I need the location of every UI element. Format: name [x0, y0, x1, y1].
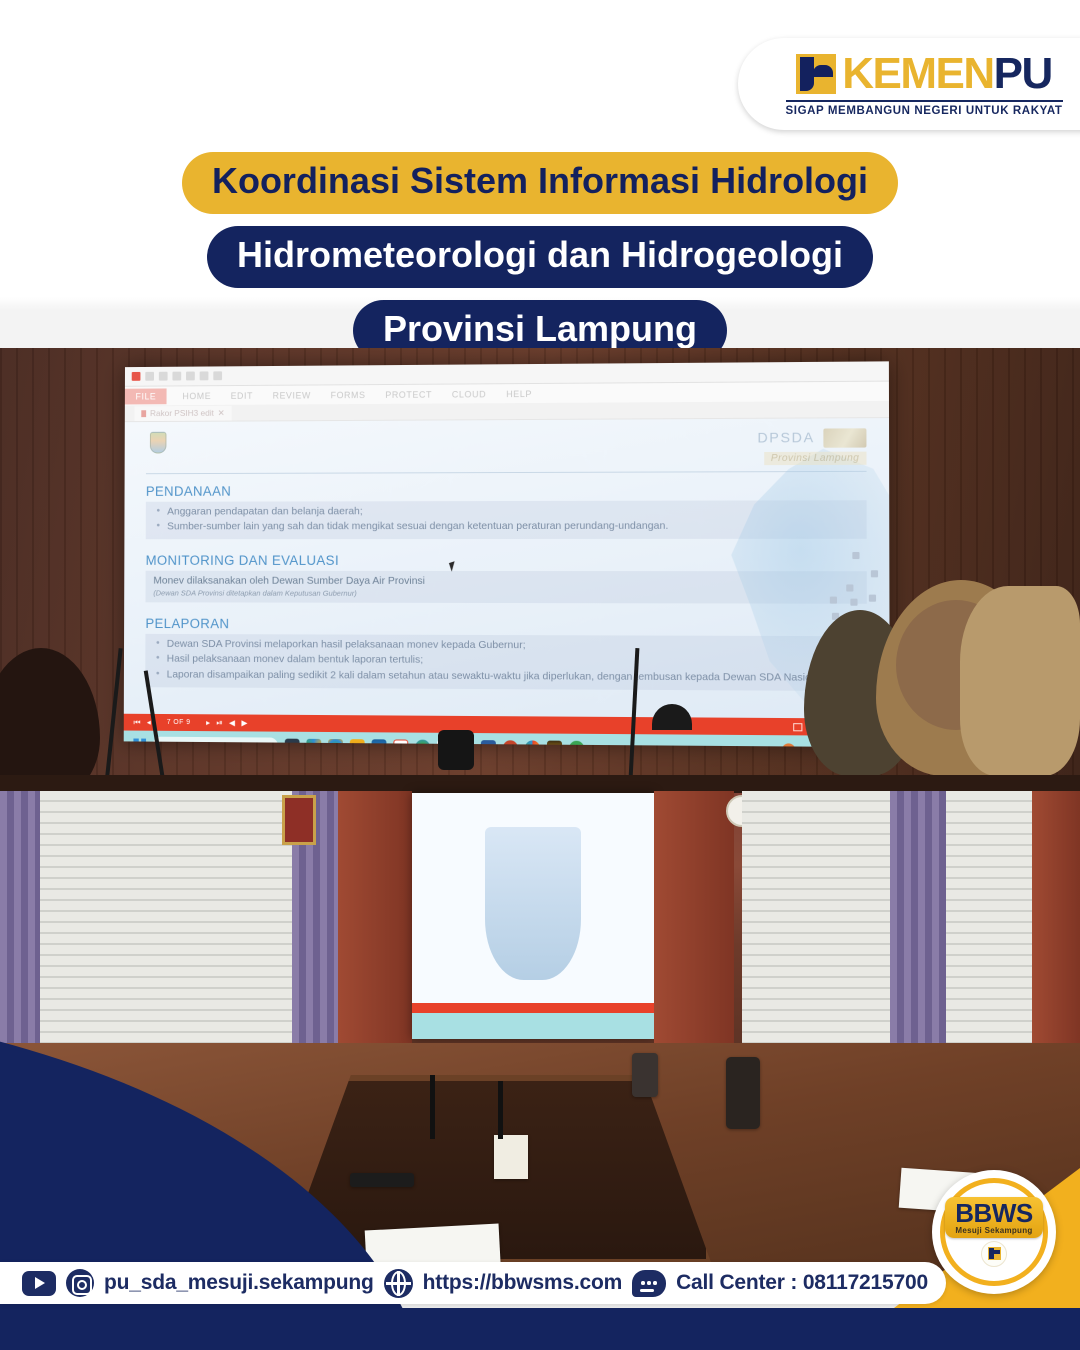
slide-org-subtitle: Provinsi Lampung — [764, 452, 867, 466]
menu-item-review[interactable]: REVIEW — [263, 390, 321, 400]
save-icon[interactable] — [159, 372, 168, 381]
instagram-icon[interactable] — [66, 1269, 94, 1297]
bbws-logo-plate: BBWS Mesuji Sekampung — [945, 1197, 1042, 1238]
logo-pu-text: PU — [994, 52, 1052, 96]
wall-portrait-frame — [282, 795, 316, 845]
remote-control — [350, 1173, 414, 1187]
menu-item-protect[interactable]: PROTECT — [375, 389, 442, 399]
pdf-nav-left-group[interactable]: ⏮ ◂ — [133, 718, 151, 726]
title-block: Koordinasi Sistem Informasi Hidrologi Hi… — [0, 152, 1080, 373]
menu-item-cloud[interactable]: CLOUD — [442, 389, 496, 399]
slide-divider — [146, 471, 867, 474]
slide-content: DPSDA Provinsi Lampung PENDANAAN Anggara… — [124, 418, 890, 719]
list-item: Laporan disampaikan paling sedikit 2 kal… — [153, 667, 859, 686]
title-line-2: Hidrometeorologi dan Hidrogeologi — [207, 226, 873, 288]
call-center[interactable]: Call Center : 08117215700 — [676, 1271, 928, 1295]
rotate-right-icon[interactable]: ▶ — [241, 719, 248, 727]
table-nameplate — [494, 1135, 528, 1179]
open-icon[interactable] — [145, 372, 154, 381]
lampung-crest-icon — [150, 432, 167, 454]
chat-bubble-icon[interactable] — [632, 1270, 666, 1297]
document-tab-label: Rakor PSIH3 edit — [150, 408, 214, 418]
pu-emblem-icon — [981, 1241, 1007, 1267]
table-microphone — [498, 1081, 503, 1139]
kemenpu-logo: KEMEN PU SIGAP MEMBANGUN NEGERI UNTUK RA… — [738, 38, 1080, 130]
section-body-pelaporan: Dewan SDA Provinsi melaporkan hasil pela… — [145, 634, 867, 691]
bbws-logo-ring: BBWS Mesuji Sekampung — [940, 1178, 1048, 1286]
dpsda-logo-icon — [823, 428, 866, 447]
undo-icon[interactable] — [186, 372, 195, 381]
globe-icon[interactable] — [384, 1269, 413, 1298]
document-icon — [141, 410, 146, 417]
print-icon[interactable] — [172, 372, 181, 381]
drink-cup — [632, 1053, 658, 1097]
footer-contact-bar: pu_sda_mesuji.sekampung https://bbwsms.c… — [0, 1262, 946, 1304]
page-indicator: 7 OF 9 — [167, 719, 191, 726]
pdf-nav-right-group[interactable]: ▸ ⏯ ◀ ▶ — [206, 719, 248, 727]
view-single-page-icon[interactable] — [793, 723, 802, 731]
document-tab[interactable]: Rakor PSIH3 edit ✕ — [134, 405, 231, 420]
last-page-icon[interactable]: ⏯ — [216, 719, 223, 727]
projection-screen — [412, 793, 654, 1039]
rotate-left-icon[interactable]: ◀ — [229, 719, 236, 727]
slide-header: DPSDA Provinsi Lampung — [146, 428, 867, 468]
pdf-nav-spacer — [248, 723, 793, 727]
title-line-1: Koordinasi Sistem Informasi Hidrologi — [182, 152, 898, 214]
kemenpu-logo-wordmark: KEMEN PU — [796, 51, 1052, 97]
menu-item-file[interactable]: FILE — [125, 388, 167, 404]
table-microphone — [430, 1075, 435, 1139]
section-body-pendanaan: Anggaran pendapatan dan belanja daerah; … — [146, 500, 867, 539]
slide-org-title: DPSDA — [757, 429, 814, 445]
menu-item-help[interactable]: HELP — [496, 388, 542, 398]
slide-pdf-bar — [412, 1003, 654, 1013]
website-url[interactable]: https://bbwsms.com — [423, 1271, 622, 1295]
pu-emblem-icon — [796, 54, 836, 94]
list-item: Anggaran pendapatan dan belanja daerah; — [154, 503, 859, 519]
menu-item-forms[interactable]: FORMS — [321, 390, 376, 400]
window-blinds — [742, 791, 890, 1071]
poster-canvas: KEMEN PU SIGAP MEMBANGUN NEGERI UNTUK RA… — [0, 0, 1080, 1350]
slide-taskbar — [412, 1013, 654, 1039]
logo-kemen-text: KEMEN — [842, 52, 993, 96]
redo-icon[interactable] — [200, 371, 209, 380]
instagram-handle[interactable]: pu_sda_mesuji.sekampung — [104, 1271, 374, 1295]
projected-screen: FILE HOME EDIT REVIEW FORMS PROTECT CLOU… — [124, 361, 890, 747]
menu-item-edit[interactable]: EDIT — [221, 390, 263, 400]
slide-crest-graphic — [485, 827, 582, 980]
slide-org-branding: DPSDA Provinsi Lampung — [757, 428, 866, 466]
conference-camera — [438, 730, 474, 770]
logo-tagline: SIGAP MEMBANGUN NEGERI UNTUK RAKYAT — [786, 100, 1063, 117]
section-heading-pendanaan: PENDANAAN — [146, 482, 867, 499]
attendee-hijab — [960, 586, 1080, 775]
youtube-icon[interactable] — [22, 1271, 56, 1296]
menu-item-home[interactable]: HOME — [173, 391, 221, 401]
customize-icon[interactable] — [213, 371, 222, 380]
photo-presentation-screen: FILE HOME EDIT REVIEW FORMS PROTECT CLOU… — [0, 348, 1080, 775]
list-item: Sumber-sumber lain yang sah dan tidak me… — [154, 519, 859, 535]
thermos-flask — [726, 1057, 760, 1129]
bbws-subtitle: Mesuji Sekampung — [955, 1226, 1032, 1235]
foxit-logo-icon — [132, 372, 141, 381]
navy-bottom-band — [0, 1308, 1080, 1350]
next-page-icon[interactable]: ▸ — [206, 719, 210, 727]
bbws-name: BBWS — [955, 1201, 1032, 1226]
close-icon[interactable]: ✕ — [218, 407, 225, 418]
window-curtain — [890, 791, 946, 1081]
first-page-icon[interactable]: ⏮ — [133, 718, 141, 726]
bbws-logo-badge: BBWS Mesuji Sekampung — [932, 1170, 1056, 1294]
